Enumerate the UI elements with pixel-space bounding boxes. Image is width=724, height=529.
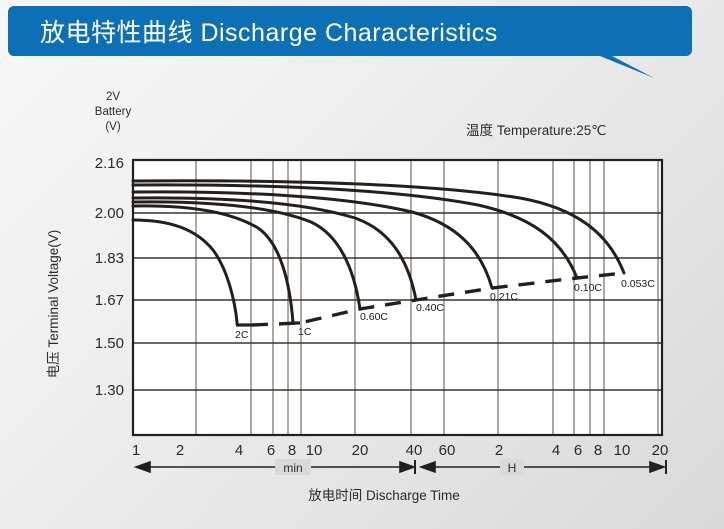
y-header-line-1: 2V [106,91,120,103]
xtick-hr-6: 6 [574,442,582,459]
xtick-hr-10: 10 [614,442,631,459]
ytick-1.50: 1.50 [95,335,124,352]
xtick-min-10: 10 [306,442,323,459]
curve-label-0.10C: 0.10C [574,282,602,294]
x-axis-title: 放电时间 Discharge Time [308,488,460,503]
xtick-hr-20: 20 [652,442,669,459]
ytick-1.67: 1.67 [95,292,124,309]
y-axis-title: 电压 Terminal Voltage(V) [46,230,61,379]
ytick-1.30: 1.30 [95,382,124,399]
hours-range-arrow [421,460,666,474]
curve-label-1C: 1C [298,326,312,338]
ytick-1.83: 1.83 [95,250,124,267]
y-header-line-2: Battery [95,106,132,118]
header-banner [8,6,692,56]
banner-bubble-shape [8,6,692,78]
x-unit-hours: H [508,461,517,475]
curve-label-0.60C: 0.60C [360,311,388,323]
curve-label-0.21C: 0.21C [490,291,518,303]
ytick-2.00: 2.00 [95,205,124,222]
xtick-min-8: 8 [288,442,296,459]
temperature-annotation: 温度 Temperature:25℃ [466,123,606,138]
curve-label-2C: 2C [235,329,249,341]
xtick-min-20: 20 [352,442,369,459]
xtick-min-6: 6 [267,442,275,459]
xtick-min-60: 60 [439,442,456,459]
xtick-min-40: 40 [406,442,423,459]
curve-label-0.40C: 0.40C [416,302,444,314]
plot-background [133,160,662,435]
xtick-hr-4: 4 [552,442,560,459]
y-header-line-3: (V) [105,121,121,133]
discharge-characteristics-chart: 2C 1C 0.60C 0.40C 0.21C 0.10C 0.053C 2.1… [0,72,724,529]
xtick-hr-8: 8 [594,442,602,459]
xtick-min-2: 2 [176,442,184,459]
x-unit-minutes: min [283,461,302,475]
curve-label-0.053C: 0.053C [621,278,655,290]
xtick-min-1: 1 [132,442,140,459]
xtick-min-4: 4 [235,442,243,459]
ytick-2.16: 2.16 [95,155,124,172]
xtick-hr-2: 2 [495,442,503,459]
